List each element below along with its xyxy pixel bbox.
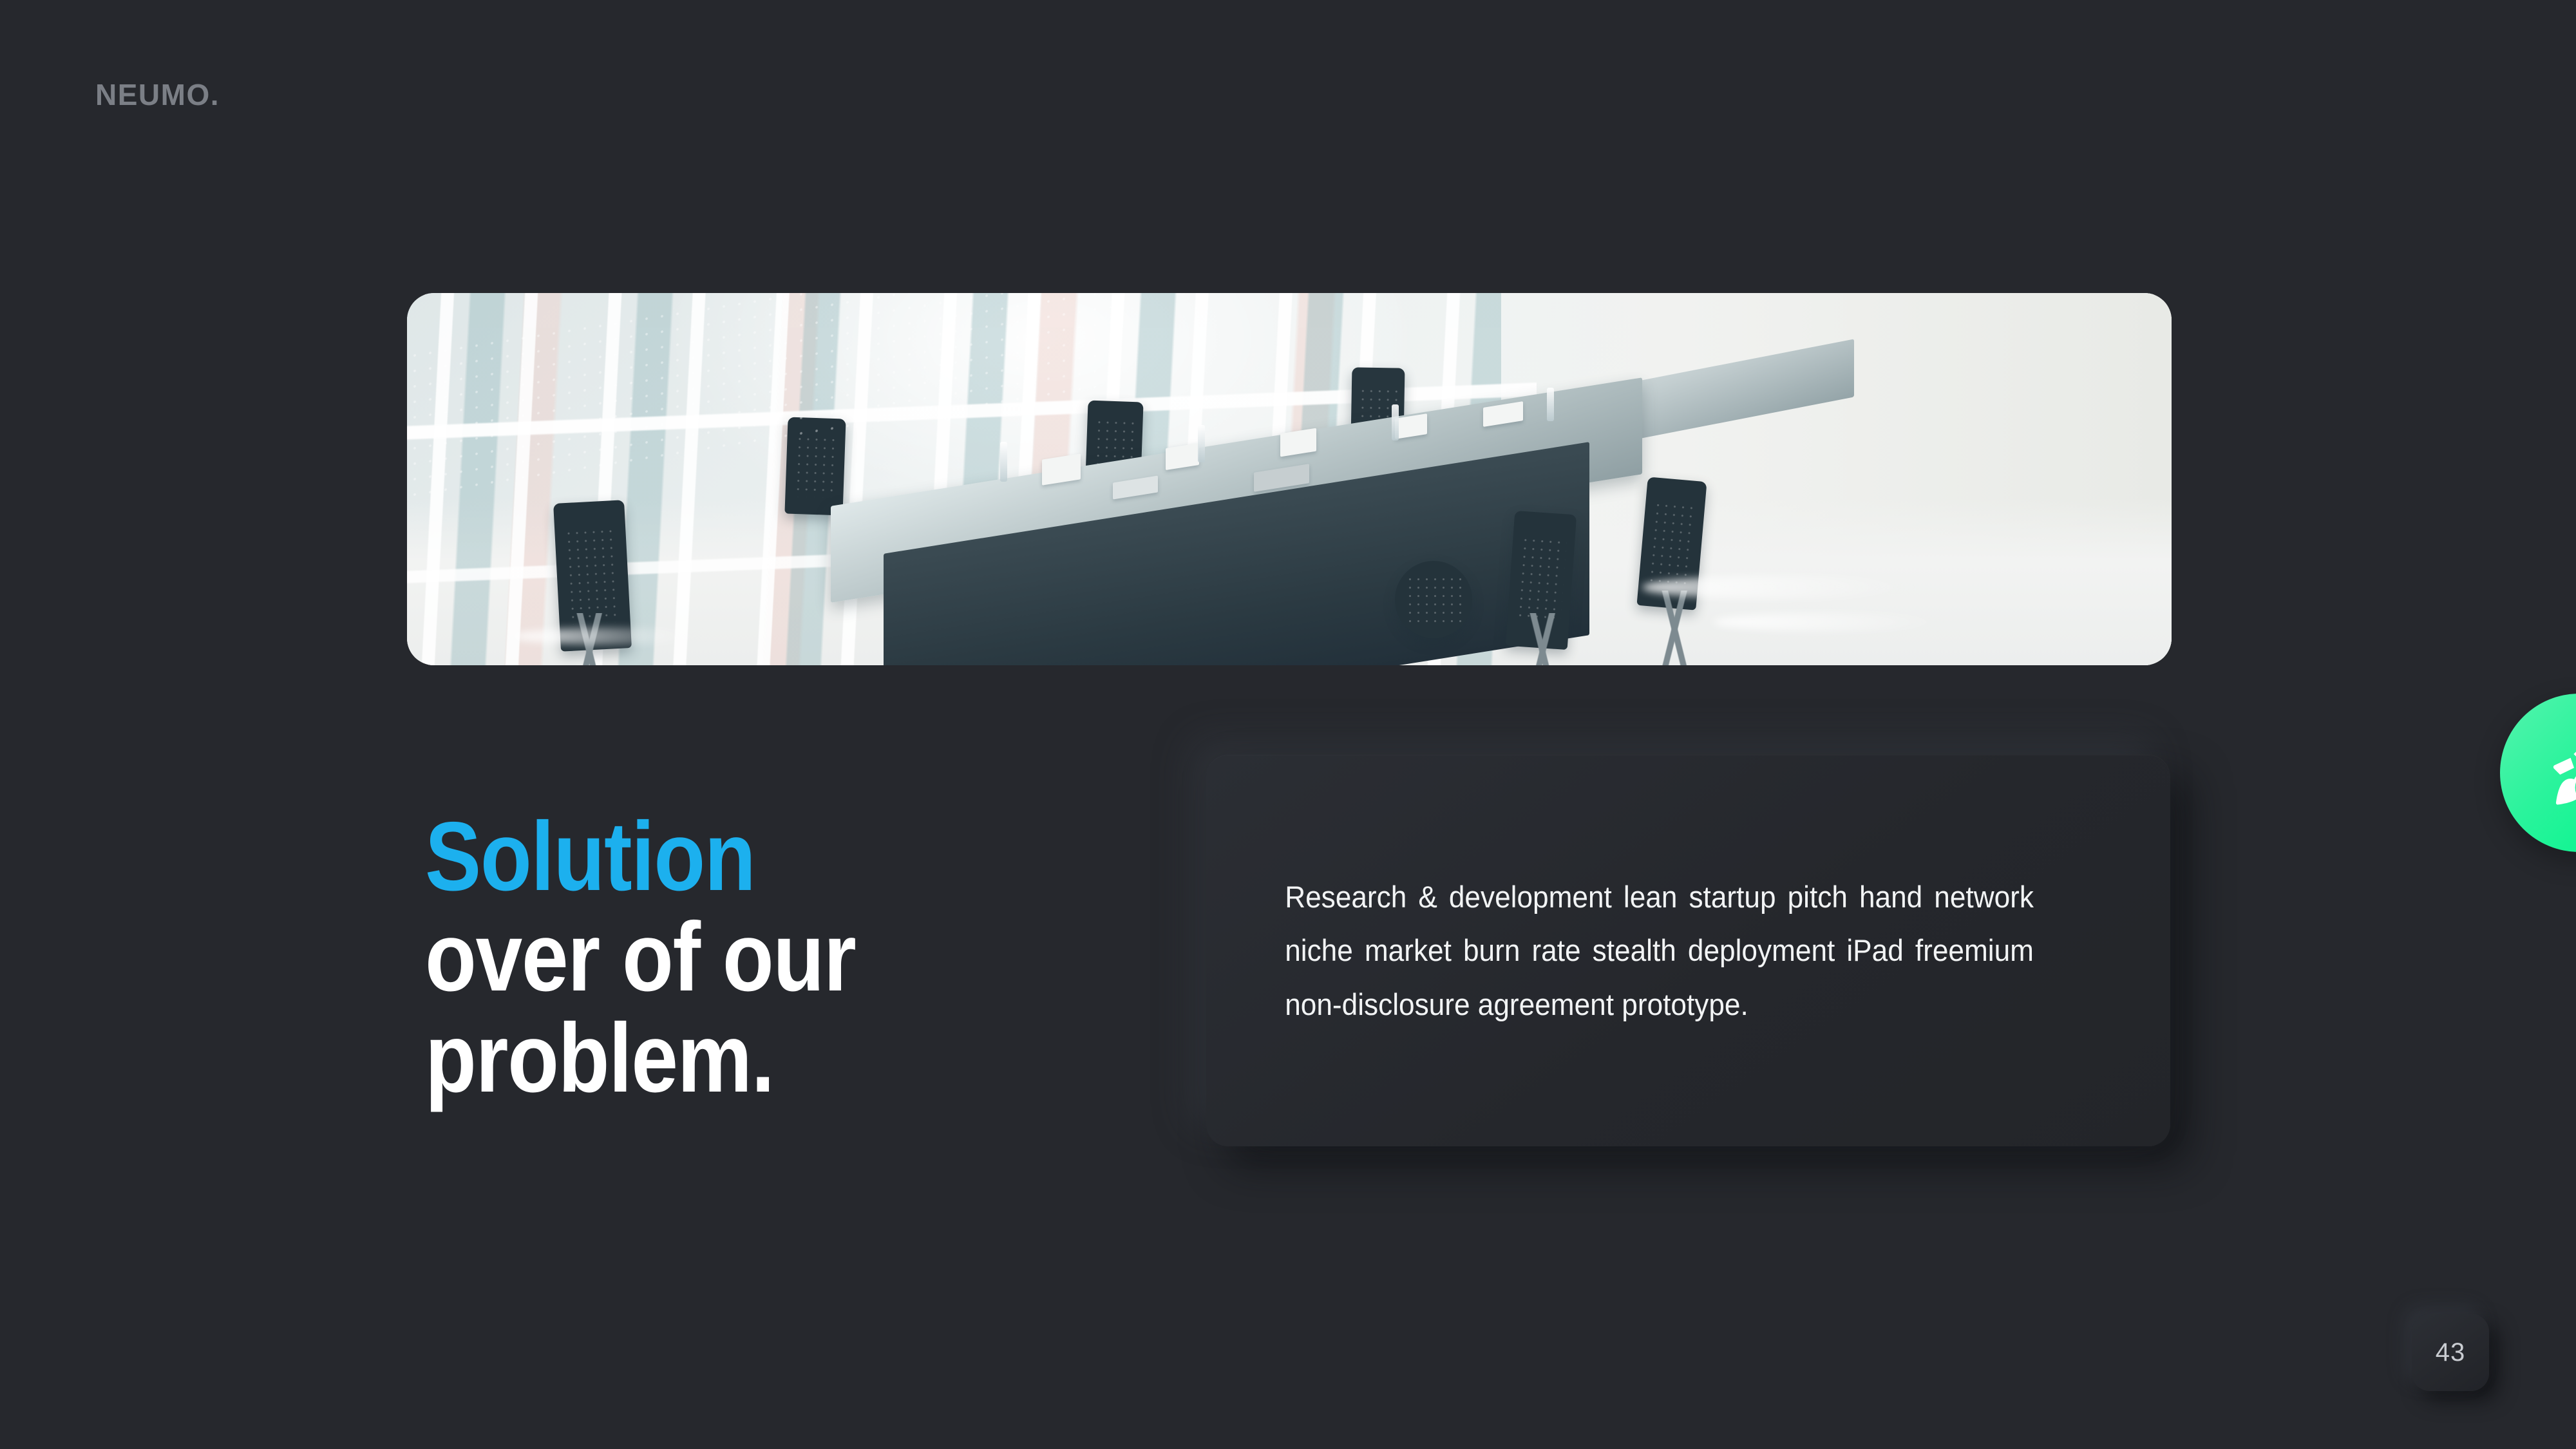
headline-accent-line: Solution	[425, 806, 1068, 907]
floor-light-streak	[1642, 576, 1913, 599]
slide-canvas: NEUMO.	[0, 0, 2576, 1449]
headline-rest-line: over of our problem.	[425, 907, 1068, 1108]
chair-legs	[1633, 591, 1717, 665]
hero-photo	[407, 293, 2172, 665]
glassware	[1198, 425, 1205, 462]
brand-logo: NEUMO.	[95, 77, 220, 112]
page-number: 43	[2436, 1338, 2466, 1367]
chair	[1395, 561, 1472, 638]
rocket-globe-badge[interactable]	[2500, 694, 2576, 852]
page-number-badge: 43	[2412, 1314, 2489, 1391]
chair-legs	[1501, 613, 1585, 665]
conference-room-photo	[407, 293, 2172, 665]
hero-image-container	[407, 293, 2172, 665]
glassware	[1547, 388, 1554, 421]
glassware	[1392, 404, 1399, 440]
description-card: Research & development lean startup pitc…	[1206, 755, 2170, 1146]
glassware	[1000, 442, 1007, 482]
rocket-globe-icon	[2536, 730, 2576, 816]
description-text: Research & development lean startup pitc…	[1206, 870, 2112, 1032]
floor-light-streak	[1713, 613, 1945, 631]
page-title: Solution over of our problem.	[425, 806, 1068, 1109]
